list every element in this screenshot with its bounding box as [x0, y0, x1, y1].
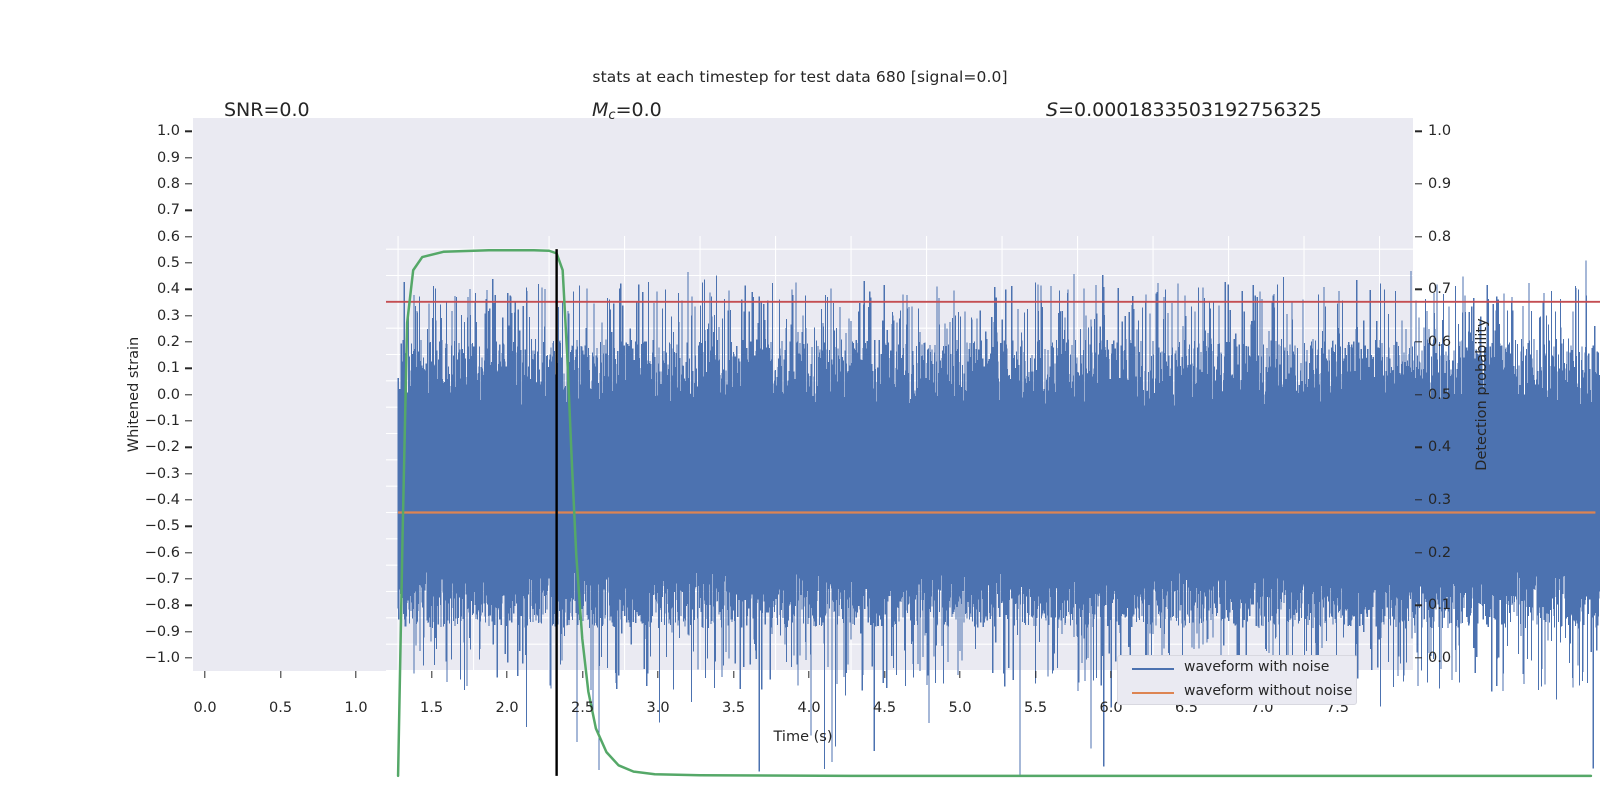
annotation-statistic-eq: = [1058, 99, 1074, 121]
x-tick-mark-10 [959, 671, 960, 678]
annotation-chirp-mass-symbol: M [592, 99, 608, 121]
annotation-statistic: S=0.0001833503192756325 [1046, 99, 1322, 121]
y-tick-mark-left-1 [185, 157, 192, 158]
y-tick-mark-right-6 [1415, 446, 1422, 447]
y-tick-mark-left-6 [185, 288, 192, 289]
x-tick-mark-9 [884, 671, 885, 678]
annotation-chirp-mass-value: 0.0 [631, 99, 661, 121]
x-tick-11: 5.5 [1024, 700, 1047, 716]
y-tick-mark-right-5 [1415, 394, 1422, 395]
x-tick-1: 0.5 [269, 700, 292, 716]
legend-item-waveform-with-noise: waveform with noise [1118, 657, 1356, 681]
y-tick-mark-left-10 [185, 394, 192, 395]
figure: stats at each timestep for test data 680… [0, 0, 1600, 800]
y-tick-mark-left-11 [185, 420, 192, 421]
y-tick-mark-left-18 [185, 604, 192, 605]
x-tick-mark-11 [1035, 671, 1036, 678]
y-tick-mark-left-5 [185, 262, 192, 263]
x-axis-label: Time (s) [193, 729, 1413, 745]
legend-label-1: waveform without noise [1184, 683, 1352, 699]
x-tick-6: 3.0 [647, 700, 670, 716]
x-tick-mark-7 [733, 671, 734, 678]
plot-area [193, 118, 1413, 671]
x-tick-10: 5.0 [948, 700, 971, 716]
x-tick-9: 4.5 [873, 700, 896, 716]
y-tick-mark-left-17 [185, 578, 192, 579]
annotation-chirp-mass: Mc=0.0 [592, 99, 662, 123]
x-tick-7: 3.5 [722, 700, 745, 716]
y-tick-mark-left-3 [185, 209, 192, 210]
y-axis-label-right: Detection probability [1470, 118, 1494, 671]
annotation-snr: SNR=0.0 [224, 99, 310, 121]
legend-swatch-line-orange [1132, 692, 1174, 694]
x-tick-mark-5 [582, 671, 583, 678]
x-tick-mark-8 [808, 671, 809, 678]
annotation-statistic-value: 0.0001833503192756325 [1074, 99, 1322, 121]
x-tick-mark-2 [355, 671, 356, 678]
legend: waveform with noise waveform without noi… [1117, 655, 1357, 705]
annotation-snr-label: SNR= [224, 99, 279, 121]
y-tick-mark-left-0 [185, 130, 192, 131]
y-tick-mark-left-20 [185, 657, 192, 658]
annotation-statistic-symbol: S [1046, 99, 1058, 121]
x-tick-mark-6 [657, 671, 658, 678]
y-axis-label-left: Whitened strain [122, 118, 146, 671]
x-tick-mark-4 [506, 671, 507, 678]
x-tick-mark-0 [204, 671, 205, 678]
y-tick-mark-left-14 [185, 499, 192, 500]
y-tick-mark-right-8 [1415, 552, 1422, 553]
y-tick-mark-left-9 [185, 367, 192, 368]
data-layer [386, 236, 1600, 789]
legend-swatch-line-blue [1132, 668, 1174, 670]
y-tick-mark-left-13 [185, 473, 192, 474]
legend-item-waveform-without-noise: waveform without noise [1118, 681, 1356, 705]
y-tick-mark-right-0 [1415, 130, 1422, 131]
x-tick-mark-12 [1110, 671, 1111, 678]
y-tick-mark-right-4 [1415, 341, 1422, 342]
y-tick-mark-left-8 [185, 341, 192, 342]
x-tick-2: 1.0 [345, 700, 368, 716]
annotation-snr-value: 0.0 [279, 99, 309, 121]
x-tick-0: 0.0 [194, 700, 217, 716]
x-tick-3: 1.5 [420, 700, 443, 716]
y-tick-mark-right-9 [1415, 604, 1422, 605]
y-tick-mark-left-19 [185, 631, 192, 632]
y-tick-mark-right-1 [1415, 183, 1422, 184]
y-tick-mark-left-16 [185, 552, 192, 553]
legend-label-0: waveform with noise [1184, 659, 1329, 675]
y-tick-mark-left-15 [185, 525, 192, 526]
x-tick-5: 2.5 [571, 700, 594, 716]
annotation-chirp-mass-subscript: c [608, 108, 615, 123]
annotation-chirp-mass-eq: = [616, 99, 632, 121]
y-tick-mark-right-2 [1415, 236, 1422, 237]
y-tick-mark-left-7 [185, 315, 192, 316]
x-tick-mark-3 [431, 671, 432, 678]
y-tick-mark-right-3 [1415, 288, 1422, 289]
y-tick-mark-left-4 [185, 236, 192, 237]
y-tick-mark-right-10 [1415, 657, 1422, 658]
y-tick-mark-left-2 [185, 183, 192, 184]
x-tick-mark-1 [280, 671, 281, 678]
y-tick-mark-right-7 [1415, 499, 1422, 500]
page-title: stats at each timestep for test data 680… [0, 68, 1600, 86]
y-tick-mark-left-12 [185, 446, 192, 447]
x-tick-4: 2.0 [496, 700, 519, 716]
x-tick-8: 4.0 [798, 700, 821, 716]
